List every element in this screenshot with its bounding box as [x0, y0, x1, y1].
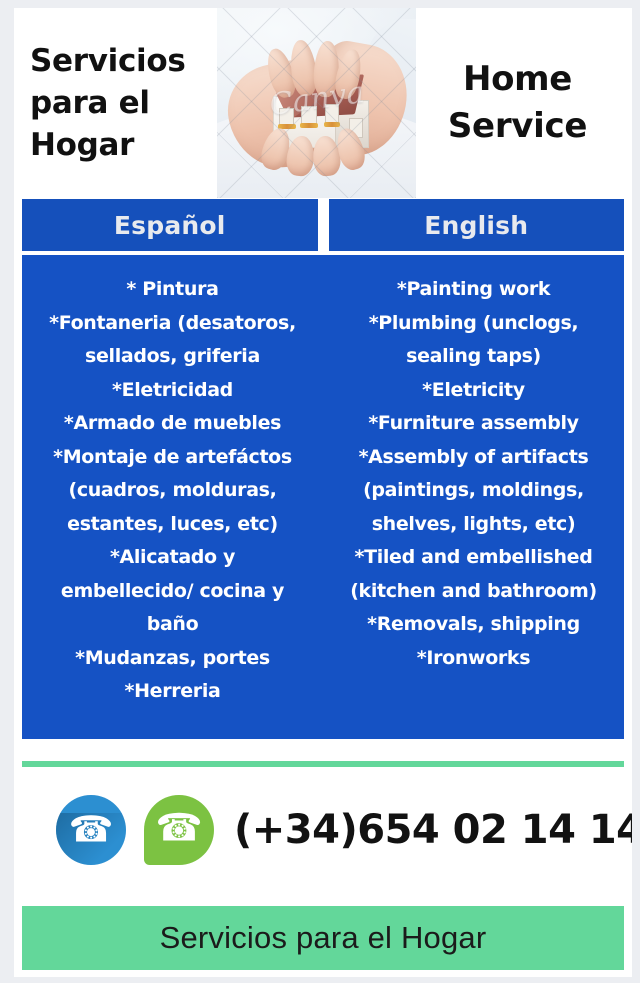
service-line: *Alicatado y	[28, 541, 317, 575]
service-line: *Plumbing (unclogs,	[329, 307, 618, 341]
service-line: *Painting work	[329, 273, 618, 307]
poster-card: Servicios para el Hogar	[14, 8, 632, 977]
service-line: (cuadros, molduras,	[28, 474, 317, 508]
footer-band: Servicios para el Hogar	[22, 906, 624, 970]
tab-espanol[interactable]: Español	[22, 199, 318, 251]
tab-espanol-label: Español	[114, 211, 226, 240]
service-line: *Ironworks	[329, 642, 618, 676]
house-flowerbox	[324, 122, 340, 127]
phone-icon[interactable]: ☎	[52, 791, 130, 869]
service-line: *Montaje de artefáctos	[28, 441, 317, 475]
whatsapp-icon-glyph: ☎	[155, 809, 202, 847]
service-line: * Pintura	[28, 273, 317, 307]
hero-title-spanish: Servicios para el Hogar	[14, 8, 217, 198]
house-window	[325, 104, 339, 124]
service-line: sellados, griferia	[28, 340, 317, 374]
tab-english-label: English	[424, 211, 528, 240]
service-line: *Herreria	[28, 675, 317, 709]
service-line: (paintings, moldings,	[329, 474, 618, 508]
whatsapp-icon[interactable]: ☎	[140, 791, 218, 869]
service-line: *Eletricity	[329, 374, 618, 408]
service-line: shelves, lights, etc)	[329, 508, 618, 542]
hero-photo: Canva	[217, 8, 416, 198]
hero-title-english: Home Service	[416, 8, 619, 198]
hero-title-spanish-text: Servicios para el Hogar	[30, 40, 211, 166]
hero-title-english-text: Home Service	[422, 56, 613, 150]
service-line: *Armado de muebles	[28, 407, 317, 441]
service-line: *Furniture assembly	[329, 407, 618, 441]
service-line: (kitchen and bathroom)	[329, 575, 618, 609]
footer-text: Servicios para el Hogar	[160, 920, 487, 956]
services-column-spanish: * Pintura *Fontaneria (desatoros, sellad…	[22, 273, 323, 727]
phone-icon-glyph: ☎	[69, 811, 114, 847]
services-panel: * Pintura *Fontaneria (desatoros, sellad…	[22, 255, 624, 739]
service-line: *Removals, shipping	[329, 608, 618, 642]
services-column-english: *Painting work *Plumbing (unclogs, seali…	[323, 273, 624, 727]
tab-english[interactable]: English	[329, 199, 625, 251]
service-line: *Mudanzas, portes	[28, 642, 317, 676]
service-line: embellecido/ cocina y	[28, 575, 317, 609]
service-line: baño	[28, 608, 317, 642]
service-line: *Fontaneria (desatoros,	[28, 307, 317, 341]
green-divider	[22, 761, 624, 767]
hero-section: Servicios para el Hogar	[14, 8, 632, 198]
service-line: sealing taps)	[329, 340, 618, 374]
service-line: *Tiled and embellished	[329, 541, 618, 575]
service-line: estantes, luces, etc)	[28, 508, 317, 542]
flyer-poster: Servicios para el Hogar	[0, 0, 640, 983]
house-flowerbox	[300, 123, 318, 128]
language-tabs: Español English	[22, 199, 624, 251]
service-line: *Eletricidad	[28, 374, 317, 408]
service-line: *Assembly of artifacts	[329, 441, 618, 475]
phone-number[interactable]: (+34)654 02 14 14	[234, 807, 632, 853]
house-window	[279, 108, 294, 125]
contact-row: ☎ ☎ (+34)654 02 14 14	[22, 774, 624, 886]
